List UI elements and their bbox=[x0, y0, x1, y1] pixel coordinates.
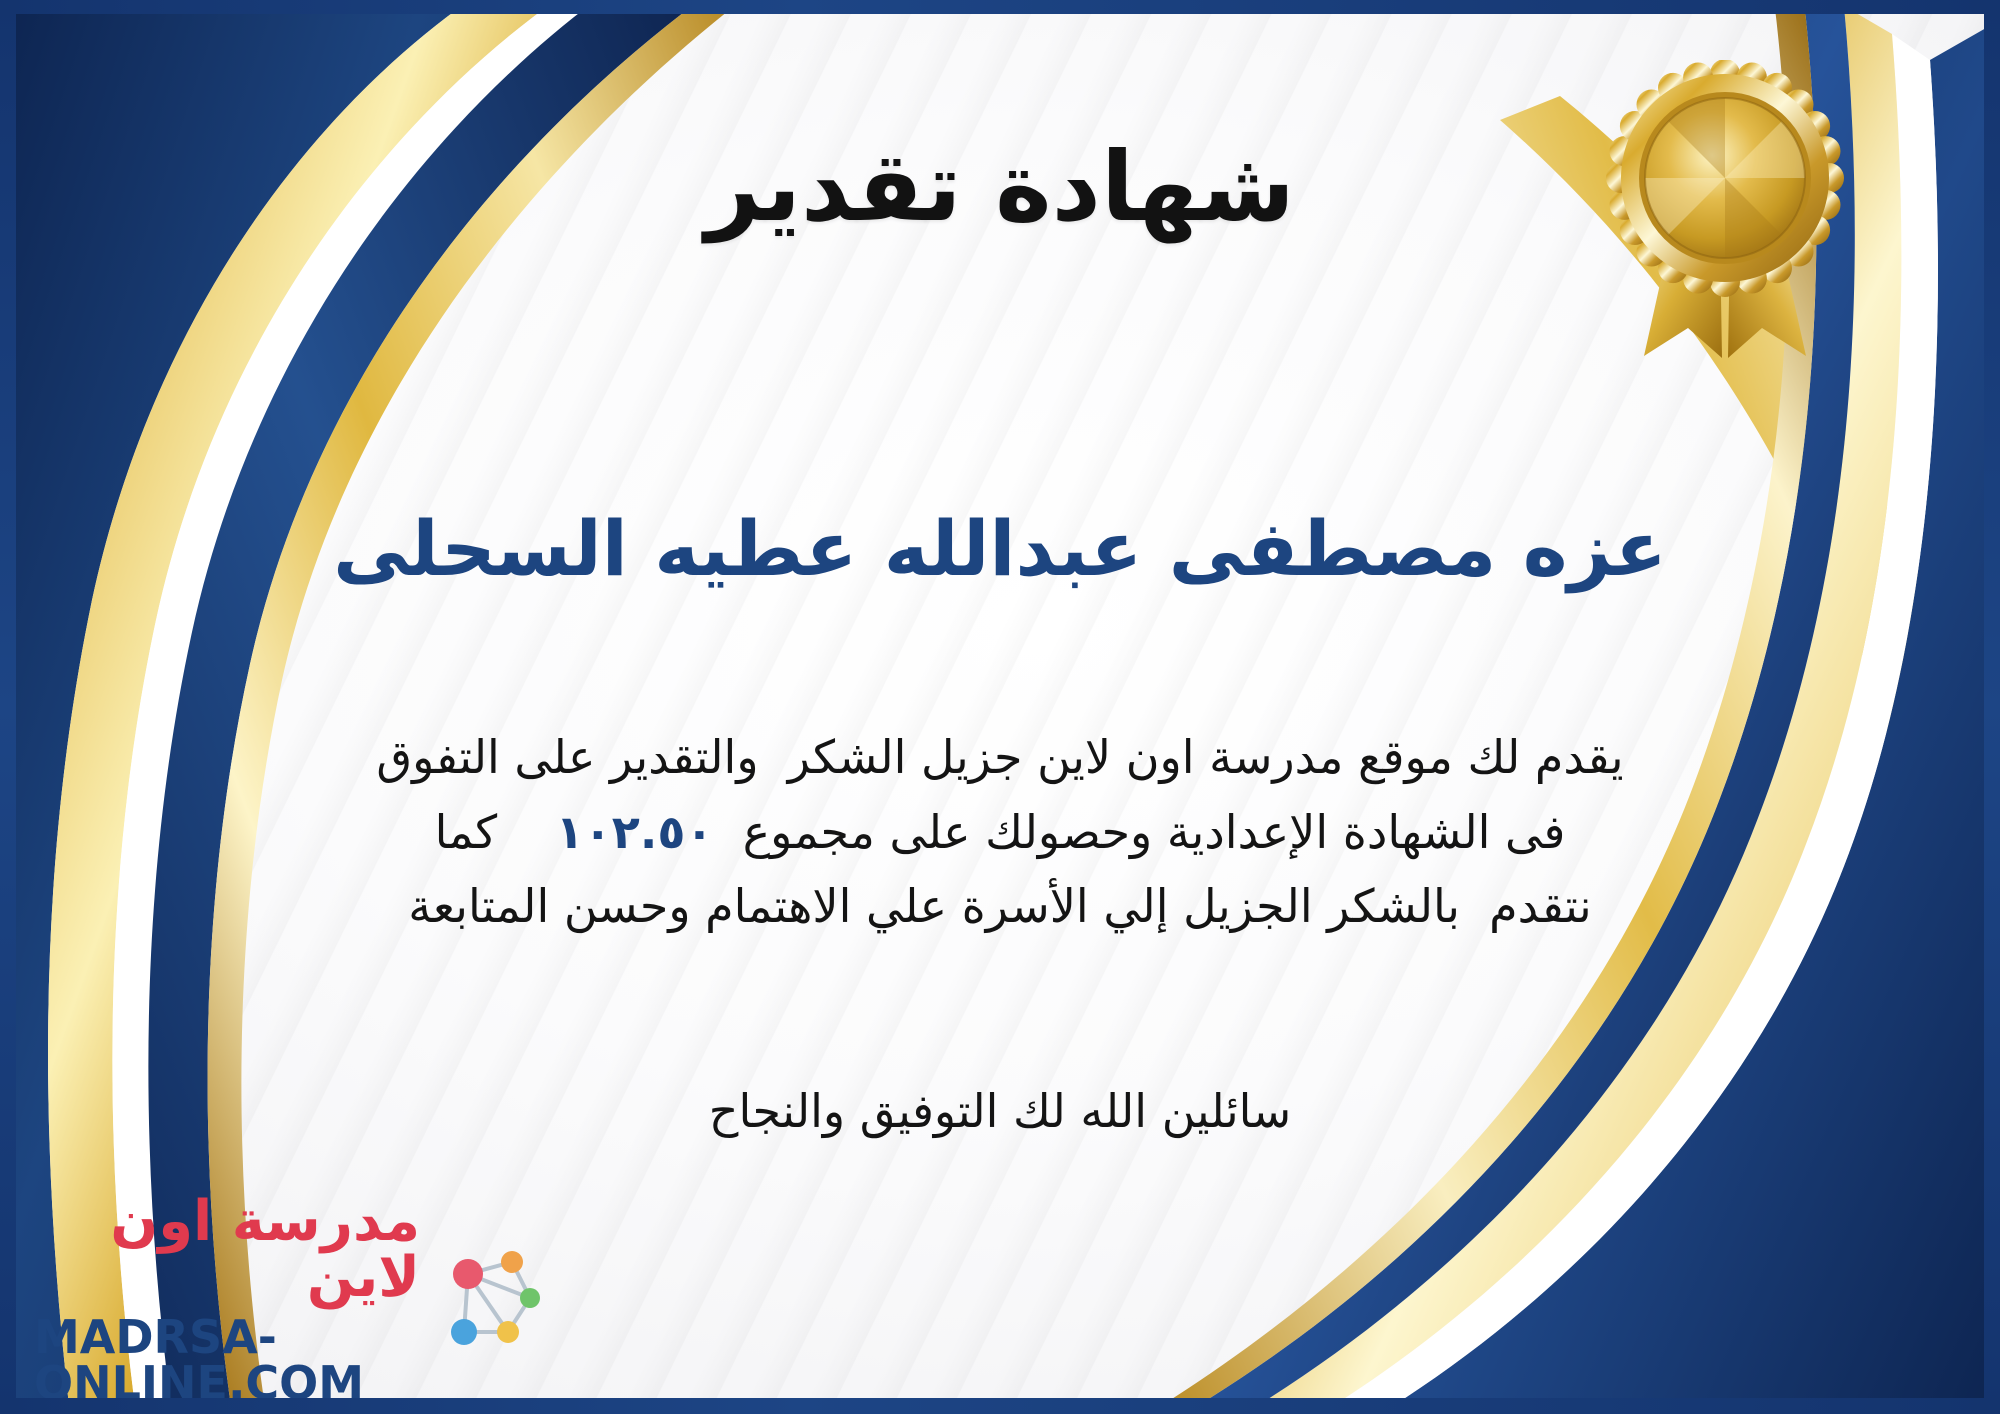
closing-line: سائلين الله لك التوفيق والنجاح bbox=[180, 1075, 1820, 1149]
brand-text: مدرسة اون لاين MADRSA-ONLINE.COM bbox=[34, 1194, 420, 1406]
body-line-3: نتقدم بالشكر الجزيل إلي الأسرة علي الاهت… bbox=[140, 869, 1860, 944]
recipient-name: عزه مصطفى عبدالله عطيه السحلى bbox=[180, 505, 1820, 592]
page-title: شهادة تقدير bbox=[180, 135, 1820, 241]
brand-website: MADRSA-ONLINE.COM bbox=[34, 1314, 420, 1406]
brand-arabic-name: مدرسة اون لاين bbox=[34, 1194, 420, 1306]
body-line-2: فى الشهادة الإعدادية وحصولك على مجموع ١٠… bbox=[140, 795, 1860, 870]
body-line-2-right: فى الشهادة الإعدادية وحصولك على مجموع bbox=[743, 805, 1566, 859]
frame-edge-left bbox=[0, 0, 16, 1414]
body-text: يقدم لك موقع مدرسة اون لاين جزيل الشكر و… bbox=[140, 720, 1860, 944]
grade-total: ١٠٢.٥٠ bbox=[556, 805, 714, 859]
body-line-2-left: كما bbox=[435, 805, 498, 859]
body-line-1: يقدم لك موقع مدرسة اون لاين جزيل الشكر و… bbox=[140, 720, 1860, 795]
certificate-page: شهادة تقدير عزه مصطفى عبدالله عطيه السحل… bbox=[0, 0, 2000, 1414]
frame-edge-right bbox=[1984, 0, 2000, 1414]
certificate-content: شهادة تقدير عزه مصطفى عبدالله عطيه السحل… bbox=[180, 0, 1820, 1414]
brand-logo[interactable]: مدرسة اون لاين MADRSA-ONLINE.COM bbox=[34, 1220, 554, 1380]
network-nodes-icon bbox=[434, 1240, 554, 1360]
